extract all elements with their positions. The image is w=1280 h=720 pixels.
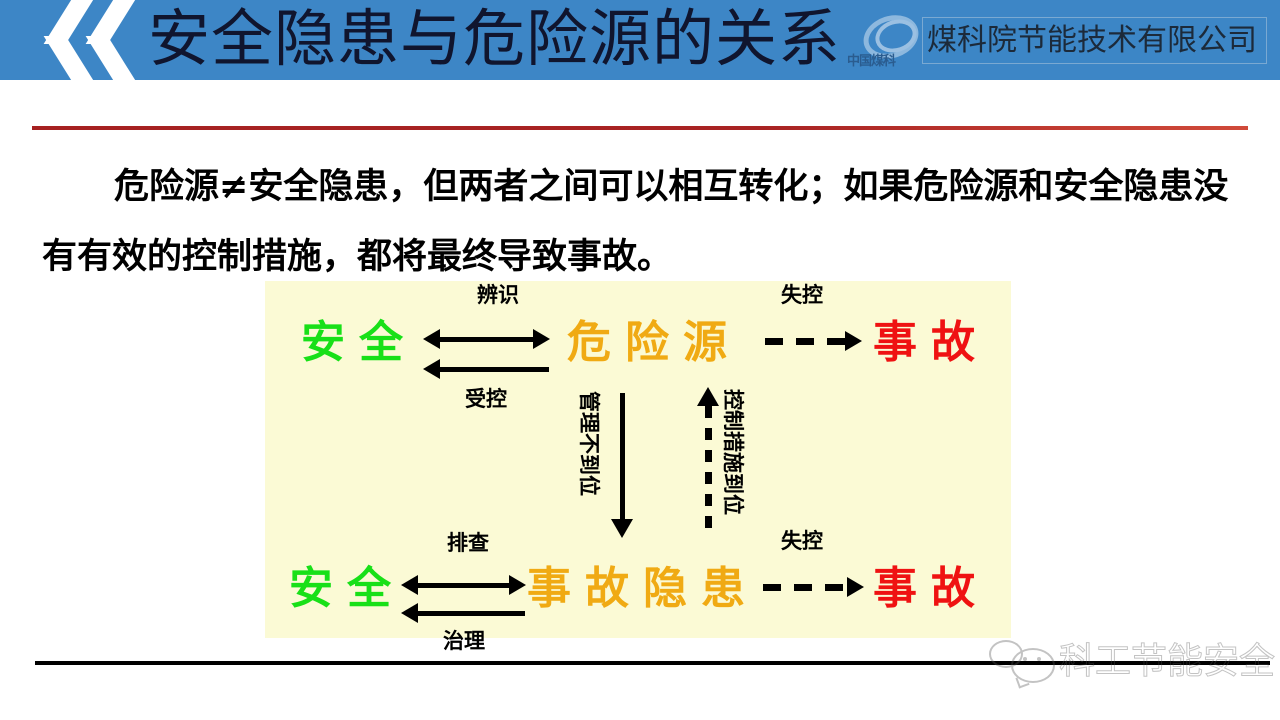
label-loss-of-control-top: 失控 xyxy=(781,285,823,306)
watermark: 科工节能安全 xyxy=(985,638,1275,686)
node-accident-top: 事故 xyxy=(873,321,989,365)
arrow-head-right-identify xyxy=(533,329,550,349)
node-hazard-source: 危险源 xyxy=(567,321,741,365)
header-divider xyxy=(32,126,1248,130)
arrow-shaft-govern xyxy=(415,611,525,616)
arrow-head-right-investigate xyxy=(509,575,526,595)
label-investigate: 排查 xyxy=(447,533,489,554)
slide-header: 安全隐患与危险源的关系 中国煤科 煤科院节能技术有限公司 xyxy=(0,0,1280,80)
arrow-shaft-identify xyxy=(437,337,537,342)
arrow-head-left-investigate xyxy=(401,575,418,595)
dashed-arrow-shaft-bottom xyxy=(763,584,851,591)
company-name-box: 煤科院节能技术有限公司 xyxy=(922,17,1267,64)
label-loss-of-control-bottom: 失控 xyxy=(781,531,823,552)
node-safe-bottom: 安全 xyxy=(289,567,405,611)
wechat-bubble-secondary-icon xyxy=(1011,648,1055,683)
arrow-shaft-investigate xyxy=(415,583,513,588)
down-arrow-head xyxy=(611,519,633,538)
arrow-head-right-bottom xyxy=(847,577,864,597)
up-arrow-dashed-shaft xyxy=(705,406,712,534)
node-accident-hazard: 事故隐患 xyxy=(527,567,759,611)
arrow-head-left-govern xyxy=(401,603,418,623)
label-control-measures-in-place: 控制措施到位 xyxy=(722,389,743,515)
company-name: 煤科院节能技术有限公司 xyxy=(927,22,1257,60)
up-arrow-head xyxy=(697,387,719,406)
arrow-head-left-identify xyxy=(423,329,440,349)
logo-text: 中国煤科 xyxy=(847,50,895,69)
wechat-eye-icon xyxy=(1037,657,1041,661)
arrow-head-left-controlled xyxy=(423,359,440,379)
label-management-not-in-place: 管理不到位 xyxy=(578,391,599,496)
page-title: 安全隐患与危险源的关系 xyxy=(148,0,841,80)
body-paragraph: 危险源≠安全隐患，但两者之间可以相互转化；如果危险源和安全隐患没有有效的控制措施… xyxy=(42,152,1242,292)
down-arrow-shaft xyxy=(620,393,625,523)
dashed-arrow-shaft-top xyxy=(765,338,849,345)
label-identify: 辨识 xyxy=(477,285,519,306)
arrow-shaft-controlled xyxy=(437,367,549,372)
node-accident-bottom: 事故 xyxy=(873,567,989,611)
label-govern: 治理 xyxy=(443,631,485,652)
label-controlled: 受控 xyxy=(465,389,507,410)
arrow-head-right-top xyxy=(845,331,862,351)
wechat-eye-icon xyxy=(1023,657,1027,661)
node-safe-top: 安全 xyxy=(301,321,417,365)
relationship-diagram: 辨识 失控 安全 受控 危险源 事故 管理不到位 控制措施到位 排查 失控 安全… xyxy=(265,281,1011,638)
watermark-text: 科工节能安全 xyxy=(1059,638,1275,686)
